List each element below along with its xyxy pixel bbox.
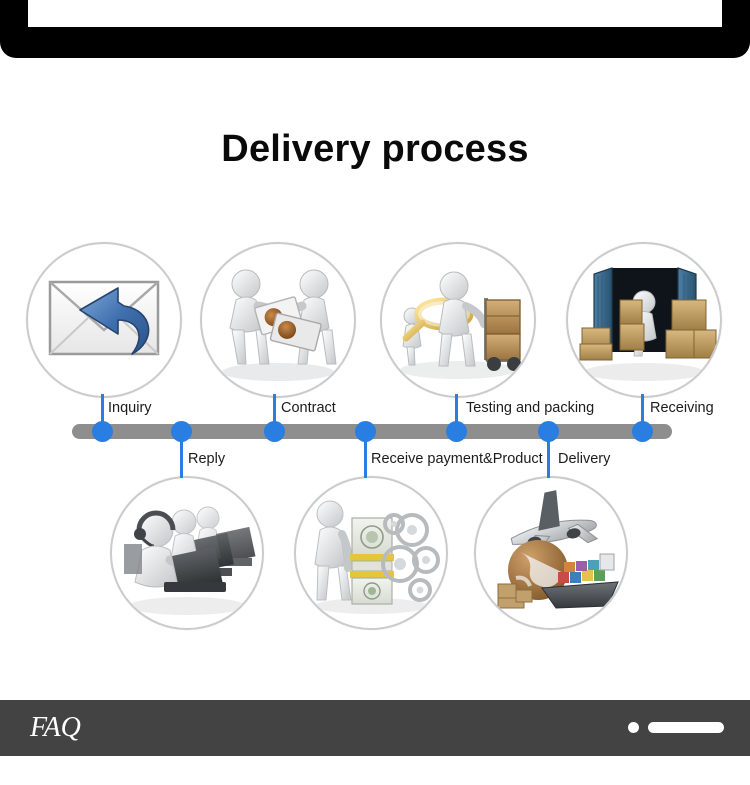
- step-circle-receive-payment-and-product[interactable]: [294, 476, 448, 630]
- inspection-packing-icon: [382, 244, 534, 396]
- black-media-frame: [0, 0, 750, 58]
- plane-globe-ship-icon: [476, 478, 626, 628]
- timeline-dot-3[interactable]: [264, 421, 285, 442]
- step-circle-reply[interactable]: [110, 476, 264, 630]
- step-circle-delivery[interactable]: [474, 476, 628, 630]
- timeline-dot-2[interactable]: [171, 421, 192, 442]
- timeline-label-reply: Reply: [188, 451, 225, 467]
- call-center-icon: [112, 478, 262, 628]
- step-circle-contract[interactable]: [200, 242, 356, 398]
- delivery-process-diagram: Inquiry Contract Testing and packing Rec…: [0, 230, 750, 640]
- timeline-label-inquiry: Inquiry: [108, 400, 152, 416]
- step-circle-testing-and-packing[interactable]: [380, 242, 536, 398]
- timeline-dot-7[interactable]: [632, 421, 653, 442]
- page-title: Delivery process: [0, 128, 750, 171]
- pagination-indicator[interactable]: [628, 722, 724, 733]
- faq-title: FAQ: [30, 712, 81, 744]
- timeline-label-contract: Contract: [281, 400, 336, 416]
- envelope-reply-icon: [28, 244, 180, 396]
- contract-handshake-icon: [202, 244, 354, 396]
- timeline-dot-1[interactable]: [92, 421, 113, 442]
- timeline-label-testing-and-packing: Testing and packing: [466, 400, 594, 416]
- timeline-dot-6[interactable]: [538, 421, 559, 442]
- timeline-label-receive-payment-and-product: Receive payment&Product: [371, 451, 543, 467]
- step-circle-inquiry[interactable]: [26, 242, 182, 398]
- step-circle-receiving[interactable]: [566, 242, 722, 398]
- money-gears-icon: [296, 478, 446, 628]
- timeline-dot-4[interactable]: [355, 421, 376, 442]
- pagination-dot[interactable]: [628, 722, 639, 733]
- pagination-active-pill[interactable]: [648, 722, 724, 733]
- timeline-dot-5[interactable]: [446, 421, 467, 442]
- timeline-label-receiving: Receiving: [650, 400, 714, 416]
- container-loading-icon: [568, 244, 720, 396]
- slide-root: Delivery process: [0, 0, 750, 785]
- frame-white-cutout: [28, 0, 722, 27]
- timeline-label-delivery: Delivery: [558, 451, 610, 467]
